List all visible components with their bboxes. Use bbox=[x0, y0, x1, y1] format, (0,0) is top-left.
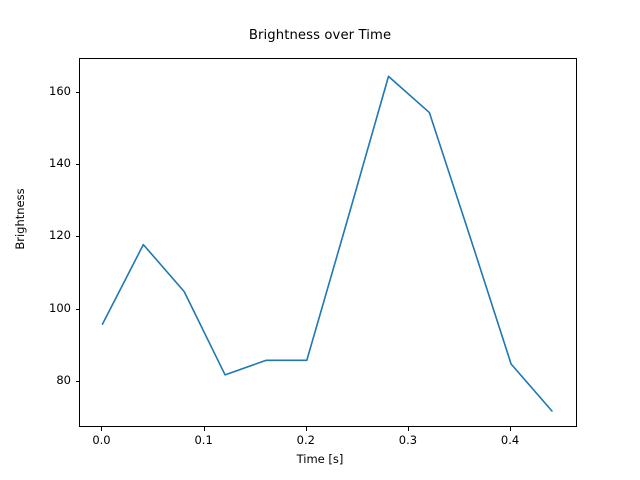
y-tick-label: 80 bbox=[21, 373, 71, 387]
x-tick-label: 0.1 bbox=[174, 433, 234, 447]
y-tick-label: 120 bbox=[21, 228, 71, 242]
x-tick-mark bbox=[510, 427, 511, 431]
y-tick-mark bbox=[76, 236, 80, 237]
x-axis-label: Time [s] bbox=[0, 452, 640, 466]
y-tick-mark bbox=[76, 381, 80, 382]
y-tick-label: 100 bbox=[21, 301, 71, 315]
x-tick-mark bbox=[408, 427, 409, 431]
x-tick-mark bbox=[204, 427, 205, 431]
x-tick-label: 0.4 bbox=[480, 433, 540, 447]
plot-area bbox=[79, 58, 577, 427]
figure-canvas: Brightness over Time 80100120140160 0.00… bbox=[0, 0, 640, 480]
y-axis-label: Brightness bbox=[13, 159, 27, 279]
y-tick-label: 140 bbox=[21, 156, 71, 170]
line-plot-svg bbox=[80, 59, 578, 428]
y-tick-mark bbox=[76, 92, 80, 93]
x-tick-mark bbox=[306, 427, 307, 431]
x-tick-label: 0.2 bbox=[276, 433, 336, 447]
y-tick-mark bbox=[76, 164, 80, 165]
chart-title: Brightness over Time bbox=[0, 28, 640, 43]
series-line-brightness bbox=[102, 76, 551, 411]
x-tick-mark bbox=[101, 427, 102, 431]
x-tick-label: 0.0 bbox=[71, 433, 131, 447]
y-tick-mark bbox=[76, 309, 80, 310]
x-tick-label: 0.3 bbox=[378, 433, 438, 447]
y-tick-label: 160 bbox=[21, 84, 71, 98]
